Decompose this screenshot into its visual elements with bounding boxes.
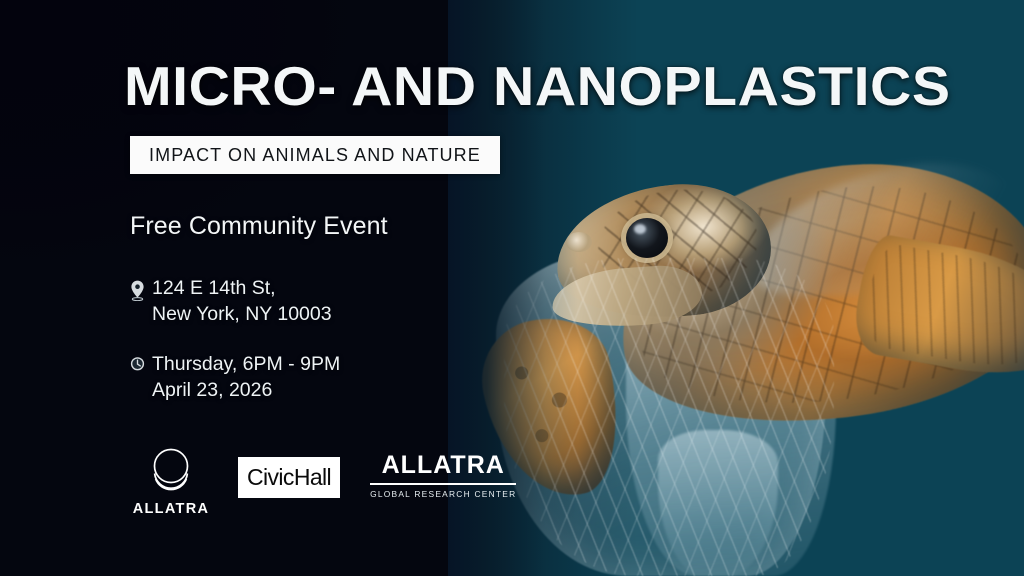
datetime-block: Thursday, 6PM - 9PM April 23, 2026 [130, 352, 340, 403]
logo-row: ALLATRA CivicHall ALLATRA GLOBAL RESEARC… [130, 437, 516, 517]
clock-icon [130, 356, 145, 377]
datetime-lines: Thursday, 6PM - 9PM April 23, 2026 [152, 352, 340, 403]
logo-allatra[interactable]: ALLATRA [130, 437, 212, 517]
logo-grc-wordmark: ALLATRA [382, 453, 505, 478]
address-line-1: 124 E 14th St, [152, 276, 332, 302]
logo-civichall[interactable]: CivicHall [238, 457, 340, 498]
logo-civichall-wordmark: CivicHall [247, 464, 331, 491]
address-line-2: New York, NY 10003 [152, 302, 332, 328]
subtitle-text: IMPACT ON ANIMALS AND NATURE [149, 145, 481, 166]
logo-allatra-wordmark: ALLATRA [133, 501, 209, 517]
page-title: MICRO- AND NANOPLASTICS [124, 59, 946, 114]
map-pin-icon [130, 280, 145, 301]
logo-allatra-global-research-center[interactable]: ALLATRA GLOBAL RESEARCH CENTER [370, 453, 516, 501]
event-time: Thursday, 6PM - 9PM [152, 352, 340, 378]
subtitle-banner: IMPACT ON ANIMALS AND NATURE [130, 136, 500, 174]
event-poster: MICRO- AND NANOPLASTICS IMPACT ON ANIMAL… [0, 0, 1024, 576]
circle-crescent-icon [147, 447, 195, 497]
event-type-label: Free Community Event [130, 212, 388, 241]
location-block: 124 E 14th St, New York, NY 10003 [130, 276, 332, 327]
event-date: April 23, 2026 [152, 378, 340, 404]
poster-content: MICRO- AND NANOPLASTICS IMPACT ON ANIMAL… [0, 0, 1024, 576]
location-lines: 124 E 14th St, New York, NY 10003 [152, 276, 332, 327]
logo-grc-tagline: GLOBAL RESEARCH CENTER [370, 489, 516, 499]
logo-grc-divider [370, 483, 516, 485]
